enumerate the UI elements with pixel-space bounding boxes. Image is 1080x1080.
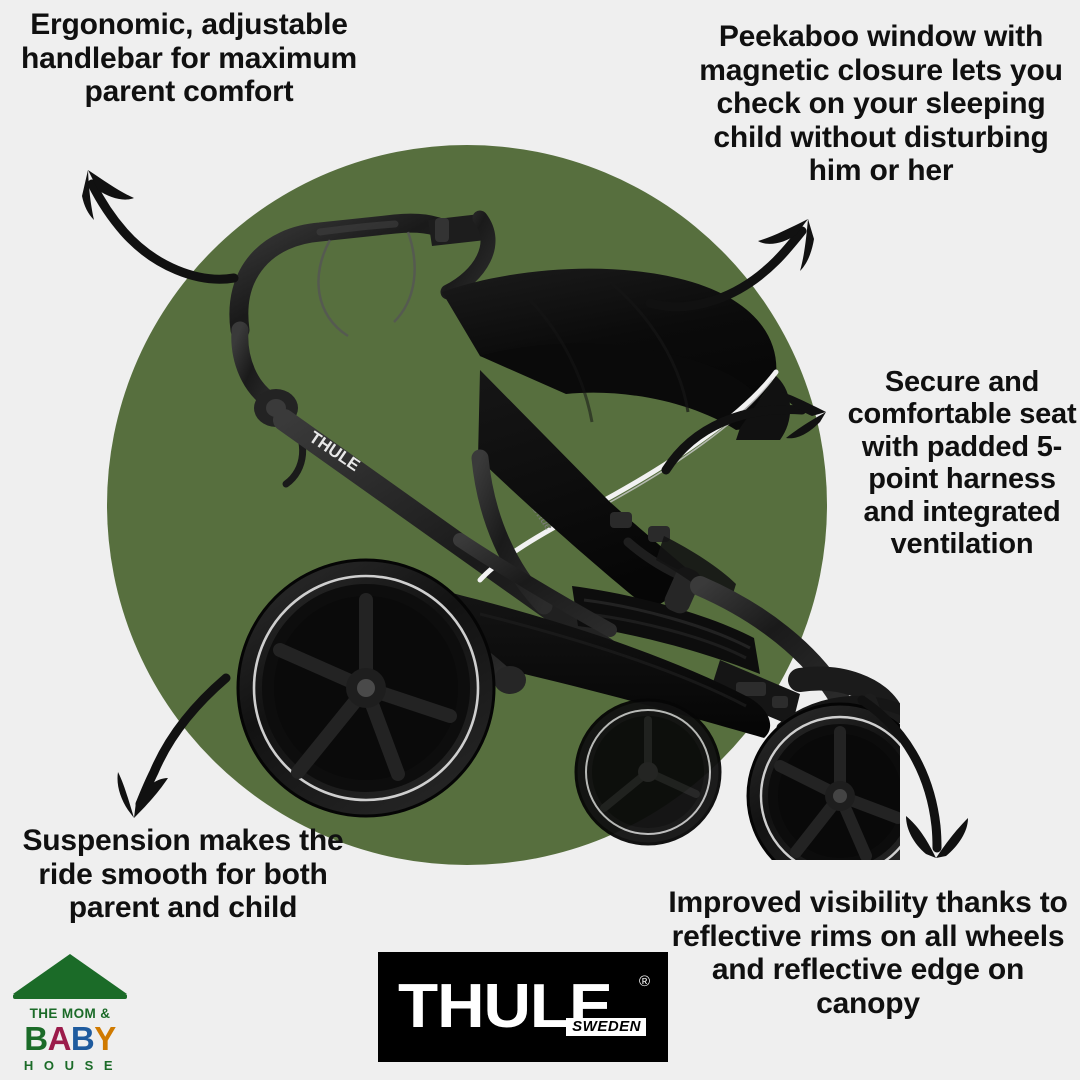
callout-text-visibility: Improved visibility thanks to reflective… [660,886,1076,1020]
brand-logo-letter-2: B [71,1020,94,1057]
callout-text-peekaboo: Peekaboo window with magnetic closure le… [690,20,1072,188]
arrow-right-icon [656,378,846,478]
thule-sweden-label: SWEDEN [566,1018,646,1036]
brand-logo-letter-3: Y [94,1020,116,1057]
registered-trademark-icon: ® [639,974,650,989]
handlebar-group [239,214,488,484]
callout-text-seat: Secure and comfortable seat with padded … [846,366,1078,561]
brand-logo-letter-1: A [48,1020,71,1057]
brand-logo-line3: H O U S E [6,1058,134,1073]
brand-logo-letter-0: B [24,1020,47,1057]
house-roof-base-icon [13,994,127,999]
rear-wheel-far-side [576,700,720,844]
brand-logo-line1: THE MOM & [6,1006,134,1021]
house-roof-icon [13,954,127,994]
callout-text-suspension: Suspension makes the ride smooth for bot… [2,824,364,925]
thule-brand-logo: THULE ® SWEDEN [378,952,668,1062]
brand-logo-word: BABY [6,1022,134,1056]
arrow-down-icon [848,686,1018,866]
arrow-up-left-icon [58,148,248,298]
arrow-down-left-icon [98,672,283,822]
callout-text-handlebar: Ergonomic, adjustable handlebar for maxi… [0,8,378,109]
mom-and-baby-house-logo: THE MOM & BABY H O U S E [6,950,134,1076]
arrow-up-right-icon [636,205,836,335]
